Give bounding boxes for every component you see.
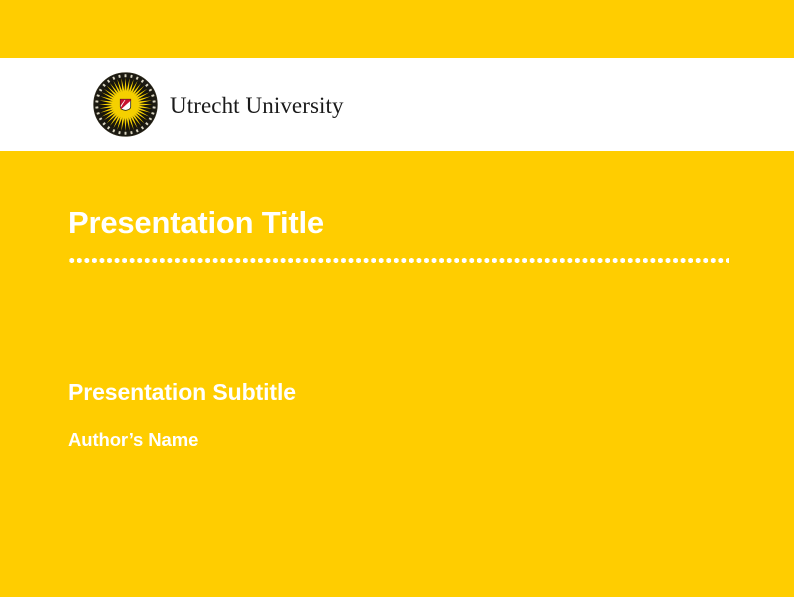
brand-band: Utrecht University <box>0 58 794 151</box>
brand-wordmark: Utrecht University <box>170 93 344 117</box>
subtitle-block: Presentation Subtitle Author’s Name <box>68 379 748 451</box>
title-slide: Utrecht University Presentation Title Pr… <box>0 0 794 597</box>
title-block: Presentation Title <box>68 205 748 242</box>
presentation-title[interactable]: Presentation Title <box>68 205 748 242</box>
author-name[interactable]: Author’s Name <box>68 429 748 451</box>
utrecht-shield <box>120 99 132 111</box>
brand-lockup: Utrecht University <box>93 58 344 151</box>
dotted-divider <box>68 258 729 263</box>
utrecht-university-seal-icon <box>93 72 158 137</box>
presentation-subtitle[interactable]: Presentation Subtitle <box>68 379 748 407</box>
